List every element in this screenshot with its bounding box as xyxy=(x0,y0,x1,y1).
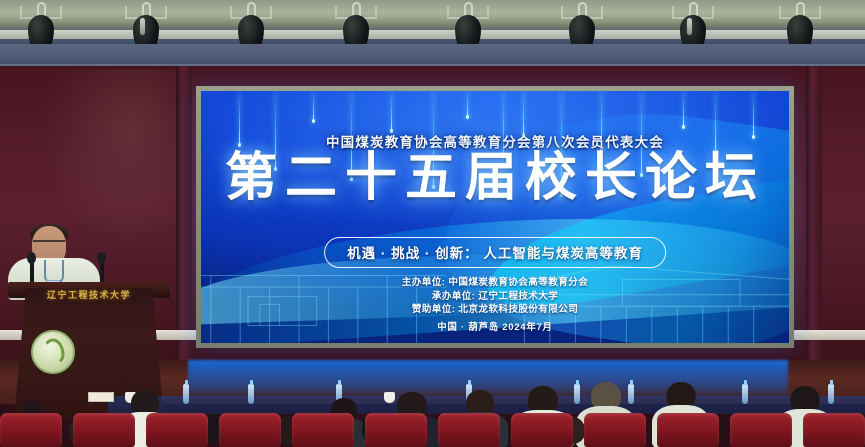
screen-surface: 中国煤炭教育协会高等教育分会第八次会员代表大会 第二十五届校长论坛 机遇 · 挑… xyxy=(201,91,789,343)
seat-row xyxy=(0,413,865,447)
microphone-icon xyxy=(97,252,106,264)
auditorium-seat xyxy=(146,413,208,447)
led-screen: 中国煤炭教育协会高等教育分会第八次会员代表大会 第二十五届校长论坛 机遇 · 挑… xyxy=(196,86,794,348)
water-bottle-icon xyxy=(183,384,189,404)
nameplate xyxy=(88,392,114,402)
slide-location-date: 中国 · 葫芦岛 2024年7月 xyxy=(201,319,789,333)
auditorium-seat xyxy=(511,413,573,447)
auditorium-seat xyxy=(365,413,427,447)
wall-highlight xyxy=(40,70,220,250)
water-bottle-icon xyxy=(742,384,748,404)
auditorium-photo: 中国煤炭教育协会高等教育分会第八次会员代表大会 第二十五届校长论坛 机遇 · 挑… xyxy=(0,0,865,447)
baseboard xyxy=(794,330,865,340)
podium-institution-label: 辽宁工程技术大学 xyxy=(14,288,164,301)
organizer-line: 承办单位: 辽宁工程技术大学 xyxy=(201,290,789,304)
slide-organizers: 主办单位: 中国煤炭教育协会高等教育分会 承办单位: 辽宁工程技术大学 赞助单位… xyxy=(201,276,789,317)
auditorium-seat xyxy=(219,413,281,447)
wall-pillar xyxy=(176,66,192,366)
auditorium-seat xyxy=(584,413,646,447)
slide-content: 中国煤炭教育协会高等教育分会第八次会员代表大会 第二十五届校长论坛 机遇 · 挑… xyxy=(201,91,789,343)
organizer-line: 主办单位: 中国煤炭教育协会高等教育分会 xyxy=(201,276,789,290)
glasses-icon xyxy=(33,240,65,249)
auditorium-seat xyxy=(0,413,62,447)
slide-theme-pill: 机遇 · 挑战 · 创新： 人工智能与煤炭高等教育 xyxy=(324,237,666,268)
microphone-icon xyxy=(27,252,36,264)
university-seal-icon xyxy=(31,330,75,374)
organizer-line: 赞助单位: 北京龙软科技股份有限公司 xyxy=(201,303,789,317)
auditorium-seat xyxy=(73,413,135,447)
auditorium-seat xyxy=(657,413,719,447)
auditorium-seat xyxy=(730,413,792,447)
wall-pillar xyxy=(806,66,822,366)
auditorium-seat xyxy=(292,413,354,447)
auditorium-seat xyxy=(803,413,865,447)
slide-title: 第二十五届校长论坛 xyxy=(201,150,789,206)
auditorium-seat xyxy=(438,413,500,447)
water-bottle-icon xyxy=(248,384,254,404)
